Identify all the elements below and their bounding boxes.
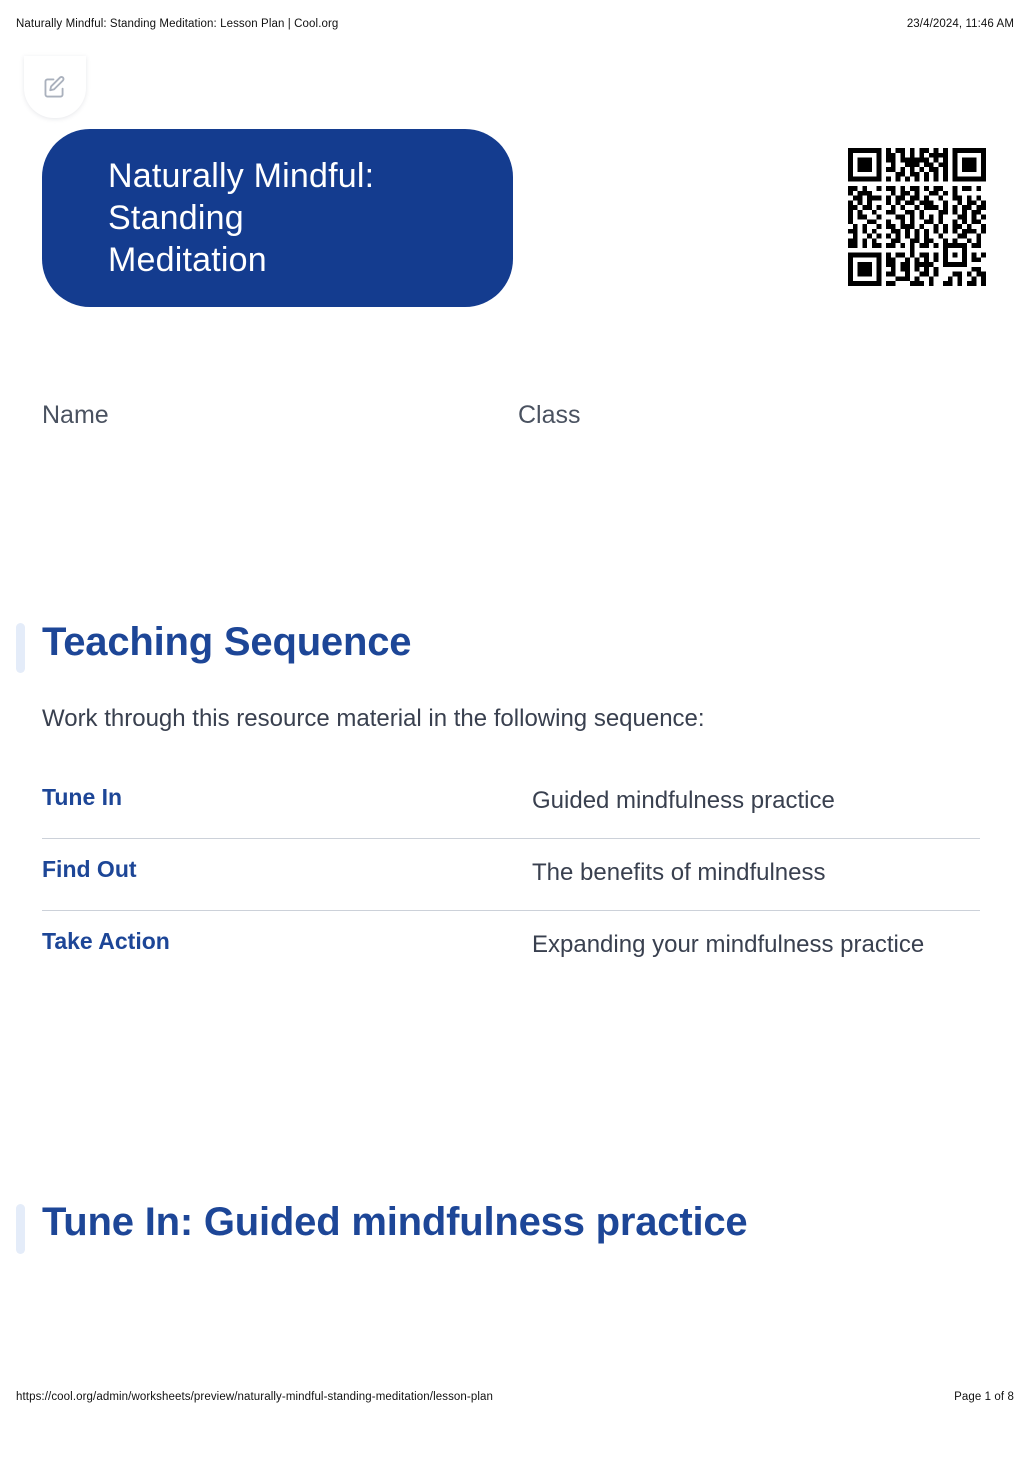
print-footer: https://cool.org/admin/worksheets/previe…: [0, 1389, 1030, 1405]
sequence-step-label: Tune In: [42, 781, 532, 813]
heading-accent-bar-icon: [16, 1204, 25, 1254]
teaching-sequence-heading: Teaching Sequence: [16, 616, 1006, 669]
print-header: Naturally Mindful: Standing Meditation: …: [0, 16, 1030, 32]
edit-button[interactable]: [24, 56, 86, 118]
sequence-step-value: Expanding your mindfulness practice: [532, 925, 932, 964]
sequence-step-value: The benefits of mindfulness: [532, 853, 932, 892]
name-field-label[interactable]: Name: [42, 398, 518, 432]
print-footer-page-indicator: Page 1 of 8: [954, 1391, 1014, 1403]
table-row: Tune In Guided mindfulness practice: [42, 767, 980, 838]
table-row: Take Action Expanding your mindfulness p…: [42, 910, 980, 982]
resource-title: Naturally Mindful: Standing Meditation: [108, 155, 473, 281]
qr-code-icon: [848, 148, 986, 286]
print-header-timestamp: 23/4/2024, 11:46 AM: [907, 18, 1014, 30]
resource-title-badge: Naturally Mindful: Standing Meditation: [42, 129, 513, 307]
tune-in-heading-text: Tune In: Guided mindfulness practice: [42, 1196, 832, 1249]
heading-accent-bar-icon: [16, 623, 25, 673]
print-header-document-title: Naturally Mindful: Standing Meditation: …: [16, 18, 338, 30]
sequence-step-label: Take Action: [42, 925, 532, 957]
table-row: Find Out The benefits of mindfulness: [42, 838, 980, 910]
class-field-label[interactable]: Class: [518, 398, 918, 432]
tune-in-section: Tune In: Guided mindfulness practice: [16, 1196, 1006, 1249]
edit-pencil-square-icon: [42, 74, 68, 100]
teaching-sequence-section: Teaching Sequence Work through this reso…: [16, 616, 1006, 982]
student-fields: Name Class: [42, 398, 988, 432]
teaching-sequence-intro: Work through this resource material in t…: [16, 703, 1006, 735]
sequence-step-value: Guided mindfulness practice: [532, 781, 932, 820]
print-footer-url: https://cool.org/admin/worksheets/previe…: [16, 1391, 493, 1403]
tune-in-heading: Tune In: Guided mindfulness practice: [16, 1196, 1006, 1249]
sequence-step-label: Find Out: [42, 853, 532, 885]
teaching-sequence-table: Tune In Guided mindfulness practice Find…: [16, 767, 980, 982]
teaching-sequence-heading-text: Teaching Sequence: [42, 616, 1006, 669]
